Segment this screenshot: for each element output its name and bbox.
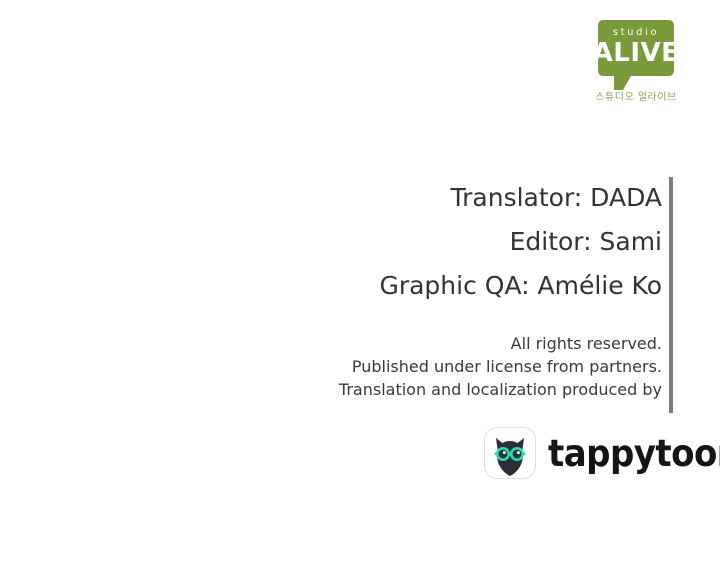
studio-logo-korean-text: 스튜디오 얼라이브 xyxy=(592,92,680,104)
credit-line-editor: Editor: Sami xyxy=(180,220,662,264)
studio-logo-word-large: ALIVE xyxy=(592,39,680,67)
credit-line-translator: Translator: DADA xyxy=(180,176,662,220)
tappytoon-cat-icon xyxy=(484,427,536,479)
tappytoon-logo: tappytoon xyxy=(484,427,720,479)
studio-logo-word-small: studio xyxy=(592,27,680,38)
credits-divider xyxy=(669,177,673,413)
rights-line-published: Published under license from partners. xyxy=(180,355,662,378)
tappytoon-wordmark: tappytoon xyxy=(548,435,720,472)
rights-line-all-rights: All rights reserved. xyxy=(180,332,662,355)
credit-line-graphic-qa: Graphic QA: Amélie Ko xyxy=(180,264,662,308)
speech-bubble-tail-icon xyxy=(614,74,632,90)
rights-line-translation: Translation and localization produced by xyxy=(180,378,662,401)
studio-alive-logo: studio ALIVE 스튜디오 얼라이브 xyxy=(592,20,680,112)
cat-face-svg xyxy=(485,428,535,478)
rights-notice-block: All rights reserved. Published under lic… xyxy=(180,332,662,401)
credits-block: Translator: DADA Editor: Sami Graphic QA… xyxy=(180,176,662,308)
